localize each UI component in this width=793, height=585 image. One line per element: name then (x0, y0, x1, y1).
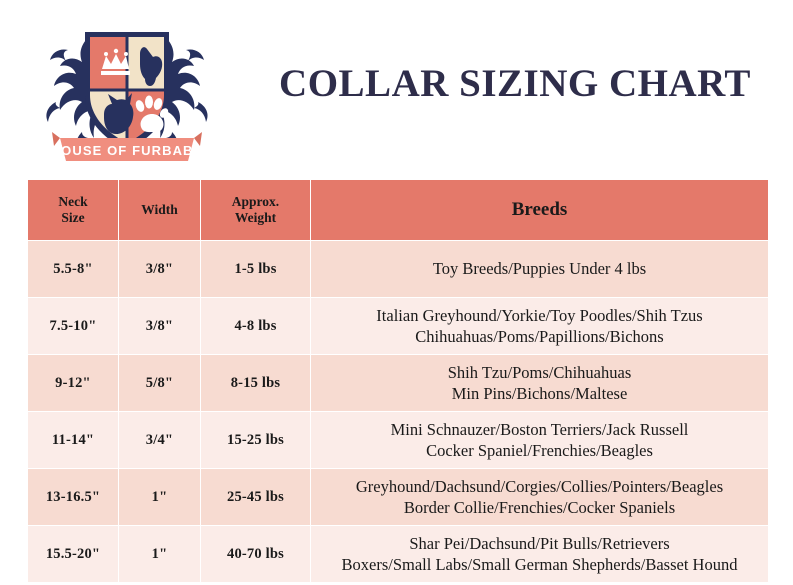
breed-line: Italian Greyhound/Yorkie/Toy Poodles/Shi… (319, 305, 760, 326)
cell-breeds: Greyhound/Dachsund/Corgies/Collies/Point… (311, 469, 769, 526)
crown-jewel-left-icon (104, 52, 108, 56)
cell-breeds: Italian Greyhound/Yorkie/Toy Poodles/Shi… (311, 298, 769, 355)
breed-line: Boxers/Small Labs/Small German Shepherds… (319, 554, 760, 575)
column-header-neck-size: Neck Size (28, 180, 119, 241)
table-row: 7.5-10"3/8"4-8 lbsItalian Greyhound/York… (28, 298, 769, 355)
page-title: COLLAR SIZING CHART (250, 63, 780, 106)
cell-neck-size: 11-14" (28, 412, 119, 469)
table-row: 9-12"5/8"8-15 lbsShih Tzu/Poms/Chihuahua… (28, 355, 769, 412)
breed-line: Mini Schnauzer/Boston Terriers/Jack Russ… (319, 419, 760, 440)
breed-line: Cocker Spaniel/Frenchies/Beagles (319, 440, 760, 461)
table-row: 15.5-20"1"40-70 lbsShar Pei/Dachsund/Pit… (28, 526, 769, 583)
breed-line: Shar Pei/Dachsund/Pit Bulls/Retrievers (319, 533, 760, 554)
table-body: 5.5-8"3/8"1-5 lbsToy Breeds/Puppies Unde… (28, 241, 769, 583)
cell-neck-size: 5.5-8" (28, 241, 119, 298)
collar-sizing-table: Neck Size Width Approx. Weight Breeds 5.… (27, 179, 769, 583)
cell-breeds: Shar Pei/Dachsund/Pit Bulls/RetrieversBo… (311, 526, 769, 583)
table-header: Neck Size Width Approx. Weight Breeds (28, 180, 769, 241)
breed-line: Shih Tzu/Poms/Chihuahuas (319, 362, 760, 383)
table-row: 5.5-8"3/8"1-5 lbsToy Breeds/Puppies Unde… (28, 241, 769, 298)
breed-line: Greyhound/Dachsund/Corgies/Collies/Point… (319, 476, 760, 497)
column-header-width: Width (119, 180, 201, 241)
header-weight-line1: Approx. (232, 194, 279, 209)
cell-width: 3/8" (119, 298, 201, 355)
cell-width: 1" (119, 469, 201, 526)
cell-breeds: Mini Schnauzer/Boston Terriers/Jack Russ… (311, 412, 769, 469)
cell-width: 3/4" (119, 412, 201, 469)
cell-breeds: Toy Breeds/Puppies Under 4 lbs (311, 241, 769, 298)
header-weight-line2: Weight (235, 210, 276, 225)
crown-jewel-center-icon (114, 49, 118, 53)
cell-width: 3/8" (119, 241, 201, 298)
header-neck-line2: Size (61, 210, 84, 225)
cell-weight: 40-70 lbs (201, 526, 311, 583)
cell-weight: 25-45 lbs (201, 469, 311, 526)
breed-line: Border Collie/Frenchies/Cocker Spaniels (319, 497, 760, 518)
logo-svg: HOUSE OF FURBABY (22, 14, 232, 166)
crown-jewel-right-icon (124, 52, 128, 56)
breed-line: Toy Breeds/Puppies Under 4 lbs (319, 258, 760, 279)
cell-width: 5/8" (119, 355, 201, 412)
header-neck-line1: Neck (58, 194, 87, 209)
cell-weight: 15-25 lbs (201, 412, 311, 469)
banner-text: HOUSE OF FURBABY (51, 143, 204, 158)
cell-neck-size: 9-12" (28, 355, 119, 412)
header-band: HOUSE OF FURBABY COLLAR SIZING CHART (0, 0, 793, 172)
cell-neck-size: 13-16.5" (28, 469, 119, 526)
cell-weight: 1-5 lbs (201, 241, 311, 298)
cell-breeds: Shih Tzu/Poms/ChihuahuasMin Pins/Bichons… (311, 355, 769, 412)
cell-neck-size: 7.5-10" (28, 298, 119, 355)
header-row: Neck Size Width Approx. Weight Breeds (28, 180, 769, 241)
breed-line: Min Pins/Bichons/Maltese (319, 383, 760, 404)
cell-weight: 4-8 lbs (201, 298, 311, 355)
brand-logo: HOUSE OF FURBABY (22, 14, 232, 166)
table-row: 11-14"3/4"15-25 lbsMini Schnauzer/Boston… (28, 412, 769, 469)
table-row: 13-16.5"1"25-45 lbsGreyhound/Dachsund/Co… (28, 469, 769, 526)
column-header-breeds: Breeds (311, 180, 769, 241)
column-header-approx-weight: Approx. Weight (201, 180, 311, 241)
breed-line: Chihuahuas/Poms/Papillions/Bichons (319, 326, 760, 347)
cell-weight: 8-15 lbs (201, 355, 311, 412)
cell-width: 1" (119, 526, 201, 583)
cell-neck-size: 15.5-20" (28, 526, 119, 583)
